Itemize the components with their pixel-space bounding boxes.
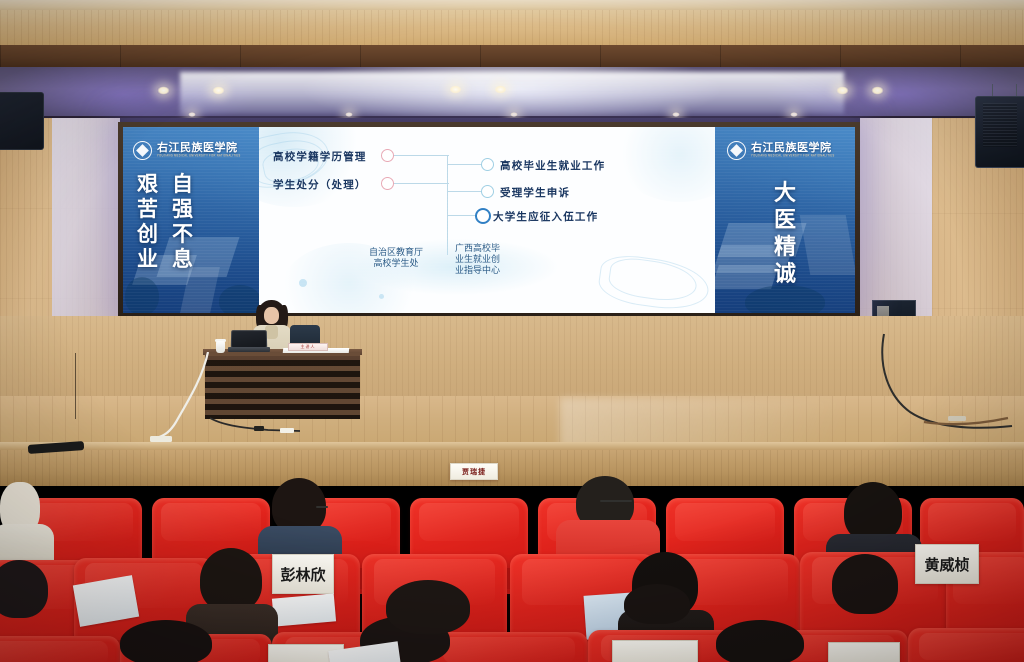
campus-photo-shape [125,277,159,313]
bottom-label-line: 高校学生处 [369,258,423,269]
attendee-head [844,482,902,542]
right-stage-cable [862,330,1024,448]
mindmap-connector [447,155,448,241]
placard-name: 彭林欣 [280,564,325,585]
attendee-head [200,548,262,612]
seat-placard: 贾瑞捷 [450,463,498,480]
mindmap-left-item[interactable]: 高校学籍学历管理 [273,147,367,165]
mindmap-connector [389,183,449,184]
university-logo: 右江民族医学院 YOUJIANG MEDICAL UNIVERSITY FOR … [133,141,241,160]
mindmap-node-pink [381,177,394,190]
logo-text-en: YOUJIANG MEDICAL UNIVERSITY FOR NATIONAL… [157,155,241,158]
downlight-icon [790,112,798,117]
bottom-label-line: 广西高校毕 [455,243,500,254]
nameplate-text: 主讲人 [301,344,316,350]
downlight-icon [494,85,507,94]
mindmap-connector [447,191,485,192]
slogan-char: 不 [172,223,193,246]
mindmap-node-accent [475,208,491,224]
bottom-label-line: 业指导中心 [455,265,500,276]
slide-decor-dot [379,294,384,299]
downlight-icon [188,112,196,117]
bottom-label-line: 业生就业创 [455,254,500,265]
mindmap-connector [447,215,477,216]
downlight-icon [157,86,170,95]
downlight-icon [212,86,225,95]
seat-placard: 黄威桢 [915,544,979,584]
diamond-emblem-icon [133,141,152,160]
mindmap-left-label: 学生处分（处理） [273,180,367,191]
slogan-char: 业 [137,248,158,271]
slide-right-slogan: 大 医 精 诚 [774,179,796,287]
bottom-label-line: 自治区教育厅 [369,247,423,258]
seat-placard [828,642,900,662]
campus-photo-shape [745,285,825,313]
slogan-char: 息 [172,248,193,271]
presenter-nameplate: 主讲人 [288,343,328,351]
mindmap-right-label: 高校毕业生就业工作 [500,161,605,172]
downlight-icon [672,112,680,117]
slide-decor-blob [615,127,715,202]
slogan-char: 强 [172,198,193,221]
laptop-icon[interactable] [231,330,267,348]
presenter-face [264,307,279,324]
attendee-document [272,593,336,626]
mindmap-bottom-label-left: 自治区教育厅 高校学生处 [369,247,423,269]
slide-decor-dot [299,279,307,287]
seat[interactable] [430,632,588,662]
slogan-char: 苦 [137,198,158,221]
slide-left-slogan: 艰 自 苦 强 创 不 业 息 [137,173,193,271]
slogan-char: 精 [774,233,796,260]
auditorium-scene: 右江民族医学院 YOUJIANG MEDICAL UNIVERSITY FOR … [0,0,1024,662]
mindmap-right-label: 大学生应征入伍工作 [493,212,598,223]
speaker-icon [975,96,1024,168]
mindmap-node-blue [481,185,494,198]
ceiling-beam [0,45,1024,68]
mindmap-connector [389,155,449,156]
diamond-emblem-icon [727,141,746,160]
mindmap-node-pink [381,149,394,162]
ceiling-wood-panel [0,10,1024,46]
slogan-char: 创 [137,223,158,246]
mindmap-left-label: 高校学籍学历管理 [273,152,367,163]
led-video-wall[interactable]: 右江民族医学院 YOUJIANG MEDICAL UNIVERSITY FOR … [118,122,860,318]
seat[interactable] [0,636,120,662]
logo-text-en: YOUJIANG MEDICAL UNIVERSITY FOR NATIONAL… [751,155,835,158]
placard-name: 贾瑞捷 [462,467,486,477]
podium-seam [75,353,76,419]
slogan-char: 诚 [774,260,796,287]
downlight-icon [345,112,353,117]
mindmap-right-label: 受理学生申诉 [500,188,570,199]
slide-left-brand-panel: 右江民族医学院 YOUJIANG MEDICAL UNIVERSITY FOR … [123,127,259,313]
attendee-head [716,620,804,662]
seat-placard [612,640,698,662]
slogan-char: 医 [774,206,796,233]
seat-placard: 彭林欣 [272,554,334,594]
downlight-icon [510,112,518,117]
attendee-head [624,584,690,624]
led-screen: 右江民族医学院 YOUJIANG MEDICAL UNIVERSITY FOR … [123,127,855,313]
placard-name: 黄威桢 [924,554,969,575]
logo-text-cn: 右江民族医学院 [751,143,835,154]
glasses-icon [316,506,328,508]
mindmap-bottom-label-right: 广西高校毕 业生就业创 业指导中心 [455,243,500,276]
mindmap-right-item[interactable]: 大学生应征入伍工作 [493,207,598,225]
slogan-char: 自 [172,173,193,196]
seat[interactable] [908,628,1024,662]
university-logo: 右江民族医学院 YOUJIANG MEDICAL UNIVERSITY FOR … [727,141,835,160]
downlight-icon [836,86,849,95]
mindmap-right-item[interactable]: 高校毕业生就业工作 [500,156,605,174]
mindmap-node-blue [481,158,494,171]
monitor-icon [0,92,44,150]
audience-seating: 贾瑞捷 彭林欣 黄威桢 [0,468,1024,662]
mindmap-left-item[interactable]: 学生处分（处理） [273,175,367,193]
glasses-icon [600,500,632,502]
attendee-head [120,620,212,662]
ceiling-recess-glow [180,72,844,114]
slogan-char: 大 [774,179,796,206]
mindmap-right-item[interactable]: 受理学生申诉 [500,183,570,201]
presentation-slide: 高校学籍学历管理 学生处分（处理） 高校毕业生就业工作 受理学生申诉 大学生应 [259,127,715,313]
attendee-head [386,580,470,634]
logo-text-cn: 右江民族医学院 [157,143,241,154]
attendee-head [832,554,898,614]
mindmap-connector [447,164,485,165]
slide-right-brand-panel: 右江民族医学院 YOUJIANG MEDICAL UNIVERSITY FOR … [715,127,855,313]
campus-photo-shape [800,215,855,275]
stage-cable [150,352,380,444]
downlight-icon [449,85,462,94]
slogan-char: 艰 [137,173,158,196]
downlight-icon [871,86,884,95]
